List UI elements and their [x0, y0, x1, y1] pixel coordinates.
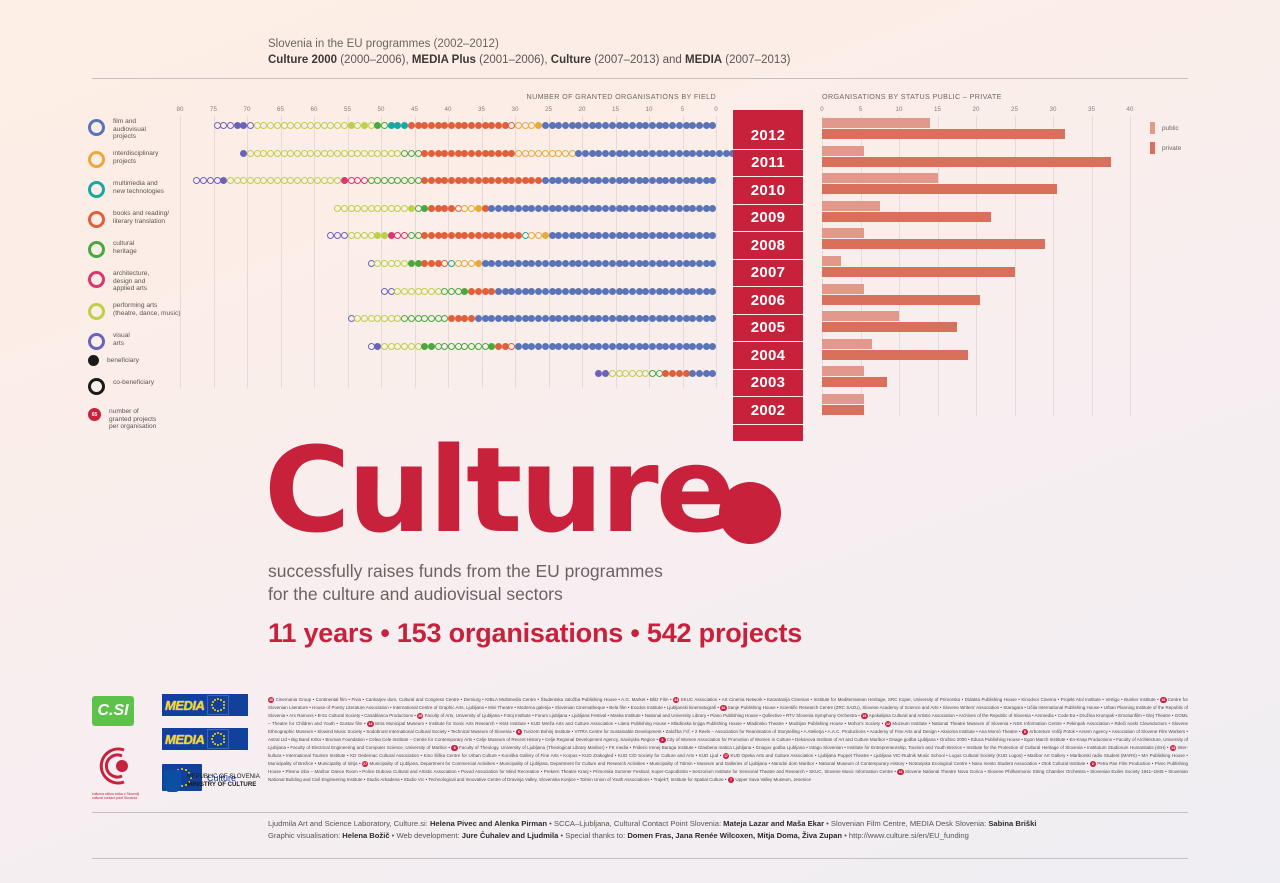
year-label-2009[interactable]: 2009 [733, 205, 803, 233]
dot-marker [629, 177, 636, 184]
org-project-badge: 5 [1022, 729, 1028, 735]
org-name: FK media • [609, 745, 633, 750]
dot-marker [696, 370, 703, 377]
bar-group-2004 [822, 339, 1138, 360]
year-label-2010[interactable]: 2010 [733, 177, 803, 205]
bar-group-2006 [822, 284, 1138, 305]
bar-group-2010 [822, 173, 1138, 194]
field-color-ring-icon [88, 151, 105, 168]
dot-marker [582, 288, 589, 295]
org-project-badge: 11 [897, 769, 903, 775]
status-legend-item-hollow[interactable]: co-beneficiary [88, 377, 154, 395]
org-name: En-Knap Productions • [1070, 737, 1117, 742]
dot-marker [475, 260, 482, 267]
dot-marker [448, 260, 455, 267]
bar-chart-xtick: 15 [934, 106, 941, 113]
dot-marker [381, 177, 388, 184]
eu-star-icon [223, 741, 225, 743]
field-legend-item-5[interactable]: architecture, design and applied arts [88, 270, 149, 293]
org-name: K6/4 Institute • [499, 721, 530, 726]
status-bar-chart: ORGANISATIONS BY STATUS PUBLIC – PRIVATE… [822, 92, 1138, 422]
eu-star-icon [214, 709, 216, 711]
dot-marker [649, 288, 656, 295]
org-name: Intago Slovenian • [809, 745, 847, 750]
org-project-badge: 14 [367, 721, 373, 727]
dot-marker [361, 150, 368, 157]
dot-marker [408, 205, 415, 212]
org-name: International Centre of Graphic Arts, Lj… [393, 705, 488, 710]
org-name: Casablanca Productions • [364, 713, 417, 718]
org-name: Ars Ramovs • [289, 713, 318, 718]
dot-marker [609, 288, 616, 295]
field-legend-label: books and reading/ literary translation [113, 210, 169, 225]
dot-marker [629, 315, 636, 322]
field-legend-item-4[interactable]: cultural heritage [88, 240, 137, 258]
dot-chart-xtick: 20 [579, 106, 586, 113]
org-name: Arsmedia • [1035, 713, 1058, 718]
eu-star-icon [223, 701, 225, 703]
divider-top [92, 78, 1188, 79]
public-bar [822, 228, 864, 238]
dot-chart-row [180, 370, 716, 379]
dot-marker [361, 315, 368, 322]
field-color-ring-icon [88, 303, 105, 320]
bar-chart-legend: publicprivate [1150, 122, 1181, 162]
dot-marker [676, 150, 683, 157]
field-legend-item-6[interactable]: performing arts (theatre, dance, music) [88, 302, 180, 320]
org-name: Maska Institute • [610, 713, 644, 718]
dot-marker [709, 177, 716, 184]
field-color-ring-icon [88, 333, 105, 350]
org-name: Arboretum Volčji Potok • [1029, 729, 1079, 734]
eu-star-icon [223, 707, 225, 709]
dot-marker [562, 205, 569, 212]
ccp-mark-icon [92, 746, 144, 786]
dot-marker [676, 343, 683, 350]
year-label-2012[interactable]: 2012 [733, 122, 803, 150]
dot-marker [341, 150, 348, 157]
dot-chart-row [180, 177, 716, 186]
ccp-slovenia-logo[interactable]: kulturna stična točka v Sloveniji cultu… [92, 746, 144, 794]
public-bar [822, 394, 864, 404]
dot-marker [649, 177, 656, 184]
org-name: Faculty of Arts, University of Ljubljana… [425, 713, 504, 718]
org-project-badge: 16 [1160, 697, 1166, 703]
org-name: Petra Pan Film Production • [1097, 761, 1155, 766]
public-bar [822, 201, 880, 211]
org-name: City of Women Association for Promotion … [667, 737, 795, 742]
org-project-badge: 29 [417, 713, 423, 719]
org-name: Celje Regional Development Agency, Savin… [545, 737, 659, 742]
org-name: Piano Publishing House • [710, 713, 762, 718]
dot-marker [314, 150, 321, 157]
org-name: Modrijan Publishing House • [789, 721, 848, 726]
org-name: Glasbena matica Ljubljana • [698, 745, 756, 750]
public-bar [822, 284, 864, 294]
field-legend-item-0[interactable]: film and audiovisual projects [88, 118, 146, 141]
org-name: Narodni dom Maribor • [772, 761, 819, 766]
status-legend-label: beneficiary [107, 357, 139, 365]
org-name: Slovenian Exiles Society 1941–1945 • [1090, 769, 1168, 774]
org-name: Učila International Publishing House • [1027, 705, 1103, 710]
org-name: Fivia • [351, 697, 365, 702]
dot-chart-xtick: 0 [714, 106, 717, 113]
org-name: Technological and Innovative Centre of D… [428, 777, 579, 782]
dot-marker [495, 343, 502, 350]
dot-marker [408, 288, 415, 295]
private-bar [822, 350, 968, 360]
dot-chart-xtick: 40 [445, 106, 452, 113]
org-name: Gnagov godba Ljubljana • [756, 745, 810, 750]
dot-marker [247, 177, 254, 184]
dot-chart-title: NUMBER OF GRANTED ORGANISATIONS BY FIELD [527, 92, 716, 101]
bar-group-2007 [822, 256, 1138, 277]
org-name: KD Oedernac Cultural Association • [350, 753, 424, 758]
dot-marker [294, 150, 301, 157]
org-name: Staragara • [1003, 705, 1027, 710]
dot-chart-row [180, 343, 716, 352]
dot-marker [562, 260, 569, 267]
dot-marker [676, 260, 683, 267]
dot-marker [448, 232, 455, 239]
dot-marker [676, 205, 683, 212]
bar-legend-item-public[interactable]: public [1150, 122, 1181, 134]
org-name: Big Band Krtko • [291, 737, 325, 742]
dot-marker [696, 232, 703, 239]
org-name: Mladinsko Theatre • [747, 721, 789, 726]
dot-marker [649, 232, 656, 239]
field-legend-item-1[interactable]: interdisciplinary projects [88, 150, 158, 168]
org-name: Prekern Theatre Kranj • [544, 769, 593, 774]
dot-marker [274, 177, 281, 184]
org-name: National Museum of Contemporary History … [819, 761, 909, 766]
public-bar [822, 366, 864, 376]
dot-marker [448, 177, 455, 184]
bar-group-2009 [822, 201, 1138, 222]
dot-marker [629, 232, 636, 239]
private-bar [822, 405, 864, 415]
bar-chart-xtick: 20 [973, 106, 980, 113]
header-line-2: Culture 2000 (2000–2006), MEDIA Plus (20… [268, 52, 791, 68]
legend-label: public [1162, 125, 1179, 132]
dot-marker [562, 288, 569, 295]
org-name: Otok Cultural Institute • [1042, 761, 1090, 766]
org-name: Archives of the Republic of Slovenia • [959, 713, 1035, 718]
eu-flag-icon [207, 729, 229, 749]
dot-marker [515, 288, 522, 295]
org-name: KUD Zrakogled • [582, 753, 618, 758]
org-name: Municipality of Idrija • [318, 761, 362, 766]
dot-marker [609, 205, 616, 212]
dot-chart-xtick: 65 [277, 106, 284, 113]
dot-marker [475, 288, 482, 295]
dot-marker [475, 122, 482, 129]
year-label-2007[interactable]: 2007 [733, 260, 803, 288]
dot-marker [428, 288, 435, 295]
org-name: Blitz Film • [650, 697, 673, 702]
org-project-badge: 27 [362, 761, 368, 767]
bar-chart-xtick: 10 [896, 106, 903, 113]
eu-star-icon [217, 698, 219, 700]
org-project-badge: 32 [720, 705, 726, 711]
dot-chart-xtick: 80 [177, 106, 184, 113]
eu-star-icon [211, 704, 213, 706]
org-name: Scientific Research Centre (ZRC SAZU), S… [780, 705, 943, 710]
org-name: Dnage godba Ljubljana • [889, 737, 939, 742]
ministry-of-culture-logo[interactable]: REPUBLIC OF SLOVENIA MINISTRY OF CULTURE [164, 770, 260, 792]
dot-marker [448, 315, 455, 322]
org-name: National and University Library • [645, 713, 710, 718]
org-name: Institute for Entrepreneurship, Tourism … [847, 745, 966, 750]
dot-marker [361, 232, 368, 239]
dot-marker [361, 122, 368, 129]
eu-star-icon [223, 735, 225, 737]
dot-chart-xtick: 50 [378, 106, 385, 113]
dot-marker [696, 260, 703, 267]
private-bar [822, 184, 1057, 194]
beneficiary-dot-icon [88, 355, 99, 366]
project-count-legend-label: number of granted projects per organisat… [109, 408, 156, 431]
dot-marker [314, 122, 321, 129]
org-name: Ljubljana Puppet Theatre • [818, 753, 873, 758]
private-bar [822, 267, 1015, 277]
org-name: Studio Vrc • [404, 777, 429, 782]
org-name: KUD C/D Society for Culture and Arts • [618, 753, 699, 758]
eu-star-icon [223, 738, 225, 740]
dot-marker [696, 150, 703, 157]
eu-star-icon [211, 738, 213, 740]
dot-chart-row [180, 315, 716, 324]
dot-chart-xtick: 5 [681, 106, 684, 113]
divider-credits-top [92, 812, 1188, 813]
org-name: Didakta Publishing House • [965, 697, 1022, 702]
dot-marker [428, 205, 435, 212]
dot-chart-row [180, 122, 716, 131]
infographic-poster: Slovenia in the EU programmes (2002–2012… [0, 0, 1280, 883]
private-bar [822, 295, 980, 305]
dot-marker [408, 232, 415, 239]
dot-marker [696, 122, 703, 129]
field-legend-item-3[interactable]: books and reading/ literary translation [88, 210, 169, 228]
field-legend-item-7[interactable]: visual arts [88, 332, 130, 350]
bar-chart-title: ORGANISATIONS BY STATUS PUBLIC – PRIVATE [822, 92, 1002, 101]
dot-marker [227, 122, 234, 129]
dot-marker [408, 150, 415, 157]
year-label-2003[interactable]: 2003 [733, 370, 803, 398]
dot-marker [495, 288, 502, 295]
org-name: Karantanija Cinemas • [767, 697, 814, 702]
year-label-2006[interactable]: 2006 [733, 287, 803, 315]
dot-chart-xtick: 70 [244, 106, 251, 113]
dot-marker [629, 150, 636, 157]
org-name: Sanje Publishing House • [728, 705, 780, 710]
org-name: Sodobnost International Cultural Society… [366, 729, 451, 734]
field-legend-label: cultural heritage [113, 240, 137, 255]
dot-marker [495, 232, 502, 239]
org-name: National Theatre Museum of Slovenia • [932, 721, 1013, 726]
org-name: KUD Opeka Arts and Culture Association • [730, 753, 818, 758]
private-bar [822, 212, 991, 222]
dot-marker [448, 343, 455, 350]
dot-chart-row [180, 205, 716, 214]
dot-marker [676, 177, 683, 184]
dot-marker [709, 370, 716, 377]
org-name: Slovene National Theatre Nova Gorica • [905, 769, 987, 774]
dot-marker [495, 177, 502, 184]
dot-marker [515, 343, 522, 350]
dot-marker [629, 343, 636, 350]
bar-chart-xtick: 40 [1127, 106, 1134, 113]
org-name: Frideric Irenej Baraga Institute • [633, 745, 698, 750]
org-name: Municipality of Brežice • [268, 761, 318, 766]
year-label-2008[interactable]: 2008 [733, 232, 803, 260]
dot-marker [428, 122, 435, 129]
dot-marker [428, 315, 435, 322]
eu-flag-icon [207, 695, 229, 715]
dot-marker [495, 315, 502, 322]
status-legend-item-filled[interactable]: beneficiary [88, 355, 139, 366]
bar-group-2003 [822, 366, 1138, 387]
media-cinema-wordmark: MEDIA [162, 732, 204, 747]
year-label-2002[interactable]: 2002 [733, 397, 803, 425]
dot-marker [381, 288, 388, 295]
org-name: Institute for Sonic Arts Research • [429, 721, 500, 726]
dot-marker [361, 205, 368, 212]
dot-marker [562, 343, 569, 350]
dot-marker [515, 205, 522, 212]
field-legend-label: film and audiovisual projects [113, 118, 146, 141]
dot-marker [515, 315, 522, 322]
dot-marker [609, 370, 616, 377]
org-name: Naso mesto Student Association • [972, 761, 1042, 766]
dot-marker [609, 315, 616, 322]
dot-marker [542, 315, 549, 322]
bar-chart-xtick: 30 [1050, 106, 1057, 113]
dot-chart-row [180, 232, 716, 241]
private-bar [822, 377, 887, 387]
dot-marker [709, 232, 716, 239]
public-bar [822, 118, 930, 128]
dot-marker [428, 260, 435, 267]
org-name: Slovene Writers' Association • [943, 705, 1004, 710]
org-name: Institutum Studiorum Humanitatis (ISH) • [1087, 745, 1170, 750]
org-name: Technical Museum of Slovenia • [451, 729, 516, 734]
year-label-2011[interactable]: 2011 [733, 150, 803, 178]
dot-chart-xtick: 15 [612, 106, 619, 113]
org-name: Institute for the Protection of Cultural… [966, 745, 1087, 750]
org-name: 2 Reels – Association for Reanimation of… [695, 729, 804, 734]
bar-legend-item-private[interactable]: private [1150, 142, 1181, 154]
org-project-badge: 13 [1170, 745, 1176, 751]
org-name: NSK Information Centre • [1013, 721, 1066, 726]
org-name: Ljubljana VIC-Rudnik Music School • [873, 753, 949, 758]
dot-marker [495, 260, 502, 267]
credits-line-1: Ljudmila Art and Science Laboratory, Cul… [268, 818, 1036, 830]
org-name: A Atelierja • [804, 729, 828, 734]
dot-marker [381, 260, 388, 267]
org-name: Litera Publishing House • [618, 721, 671, 726]
header-line-1: Slovenia in the EU programmes (2002–2012… [268, 36, 791, 52]
dot-marker [475, 343, 482, 350]
dot-marker [582, 232, 589, 239]
brand-dot-icon [719, 482, 781, 544]
org-name: Pekinpah Association • [1067, 721, 1115, 726]
dot-chart-row [180, 288, 716, 297]
eu-star-icon [214, 743, 216, 745]
dot-marker [274, 122, 281, 129]
media-cinema-logo[interactable]: MEDIA EUROPE LOVES CINEMA [162, 728, 248, 741]
dot-marker [582, 260, 589, 267]
eu-star-icon [220, 743, 222, 745]
dot-marker [408, 260, 415, 267]
organisation-list: 20Cinemania Group • Continental film • F… [268, 696, 1188, 785]
org-name: Kinodvor Cinema • [1021, 697, 1060, 702]
dot-chart-xtick: 45 [411, 106, 418, 113]
field-color-ring-icon [88, 119, 105, 136]
org-name: Založba /*cf. • [666, 729, 695, 734]
org-name: Municipality of Ljubljana, Department fo… [370, 761, 500, 766]
org-name: A.A.C. Productions • [828, 729, 870, 734]
dot-marker [609, 343, 616, 350]
culture-si-logo[interactable]: C.SI [92, 696, 134, 726]
org-name: KUD Mreža Arts and Culture Association • [531, 721, 618, 726]
field-color-ring-icon [88, 271, 105, 288]
dot-chart-xtick: 10 [646, 106, 653, 113]
dot-marker [582, 343, 589, 350]
dot-marker [649, 150, 656, 157]
org-name: SKUC, Slovene Music Information Centre • [809, 769, 897, 774]
org-name: Demiurg • [464, 697, 486, 702]
dot-chart-xtick: 25 [545, 106, 552, 113]
dot-marker [649, 315, 656, 322]
bar-chart-xtick: 35 [1088, 106, 1095, 113]
media-desk-logo[interactable]: MEDIA MEDIA DESK SLOVENIJA [162, 694, 248, 707]
org-name: Municipality of Ljubljana, Department fo… [499, 761, 649, 766]
bar-chart-xtick: 25 [1011, 106, 1018, 113]
org-name: Gustav film • [340, 721, 368, 726]
dot-marker [582, 122, 589, 129]
field-legend-label: visual arts [113, 332, 130, 347]
org-name: Cinemania Group • [276, 697, 316, 702]
dot-marker [696, 288, 703, 295]
org-project-badge: 6 [516, 729, 522, 735]
org-project-badge: 7 [728, 777, 734, 783]
org-name: Faculty of Electrical Engineering and Co… [290, 745, 451, 750]
year-label-2005[interactable]: 2005 [733, 315, 803, 343]
credits-line-2: Graphic visualisation: Helena Božič • We… [268, 830, 1036, 842]
org-name: Academy of Fine Arts and Design • [870, 729, 941, 734]
dot-marker [381, 315, 388, 322]
dot-marker [495, 205, 502, 212]
dot-marker [542, 260, 549, 267]
field-legend-item-2[interactable]: multimedia and new technologies [88, 180, 164, 198]
year-column: 2012201120102009200820072006200520042003… [733, 110, 803, 441]
org-name: Bela film • [609, 705, 630, 710]
org-name: Aksioma Institute • [941, 729, 979, 734]
dot-chart-row [180, 260, 716, 269]
dot-marker [676, 370, 683, 377]
org-name: Vertigo • [1105, 697, 1124, 702]
dot-marker [475, 205, 482, 212]
year-label-2004[interactable]: 2004 [733, 342, 803, 370]
dot-marker [676, 122, 683, 129]
dot-marker [408, 315, 415, 322]
org-name: Senzorium Institute for Sensorial Theatr… [692, 769, 809, 774]
org-name: Celje Museum of Recent History • [476, 737, 545, 742]
bar-chart-xtick: 5 [859, 106, 862, 113]
dot-marker [475, 150, 482, 157]
dot-marker [341, 122, 348, 129]
